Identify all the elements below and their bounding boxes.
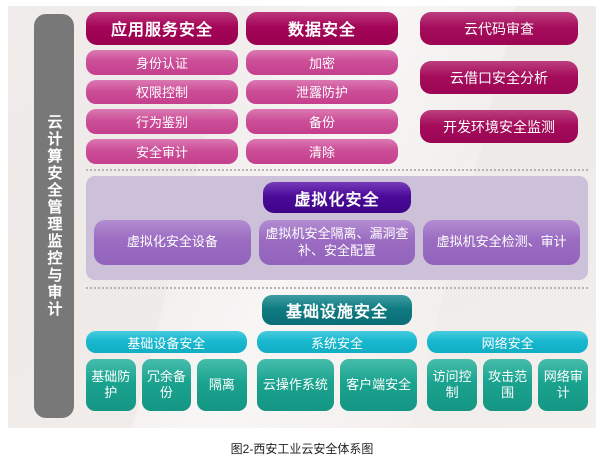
card-identity-authentication: 身份认证 (86, 50, 238, 75)
card-vm-security-detection-audit: 虚拟机安全检测、审计 (423, 220, 580, 265)
section-infrastructure-security: 基础设施安全 基础设备安全 基础防护 冗余备份 隔离 系统安全 云操作系统 客户… (86, 295, 588, 420)
column-cloud-extra-services: 云代码审查 云借口安全分析 开发环境安全监测 (420, 12, 578, 164)
card-client-security: 客户端安全 (340, 359, 417, 411)
card-redundant-backup: 冗余备份 (142, 359, 192, 411)
card-erasure: 清除 (246, 139, 398, 164)
card-security-audit: 安全审计 (86, 139, 238, 164)
group-network-security: 网络安全 访问控制 攻击范围 网络审计 (427, 331, 588, 411)
card-network-audit: 网络审计 (538, 359, 588, 411)
card-dev-environment-security-monitoring: 开发环境安全监测 (420, 110, 578, 143)
card-access-control: 访问控制 (427, 359, 477, 411)
card-behavior-identification: 行为鉴别 (86, 109, 238, 134)
card-application-service-security-title: 应用服务安全 (86, 12, 238, 45)
section-application-security: 应用服务安全 身份认证 权限控制 行为鉴别 安全审计 数据安全 加密 泄露防护 … (86, 12, 588, 164)
virtualization-header-row: 虚拟化安全 (94, 182, 580, 213)
card-cloud-interface-security-analysis: 云借口安全分析 (420, 61, 578, 94)
infrastructure-header-row: 基础设施安全 (86, 295, 588, 325)
card-system-security-title: 系统安全 (257, 331, 418, 353)
card-permission-control: 权限控制 (86, 80, 238, 105)
card-network-security-title: 网络安全 (427, 331, 588, 353)
column-data-security: 数据安全 加密 泄露防护 备份 清除 (246, 12, 398, 164)
card-leak-protection: 泄露防护 (246, 80, 398, 105)
group-system-security: 系统安全 云操作系统 客户端安全 (257, 331, 418, 411)
card-isolation: 隔离 (197, 359, 247, 411)
section-virtualization-security: 虚拟化安全 虚拟化安全设备 虚拟机安全隔离、漏洞查补、安全配置 虚拟机安全检测、… (86, 176, 588, 280)
divider-bottom (86, 287, 588, 289)
card-cloud-operating-system: 云操作系统 (257, 359, 334, 411)
card-basic-equipment-security-title: 基础设备安全 (86, 331, 247, 353)
card-encryption: 加密 (246, 50, 398, 75)
card-infrastructure-security-title: 基础设施安全 (262, 295, 412, 325)
virtualization-cards-row: 虚拟化安全设备 虚拟机安全隔离、漏洞查补、安全配置 虚拟机安全检测、审计 (94, 220, 580, 265)
figure-root: 云计算安全管理监控与审计 应用服务安全 身份认证 权限控制 行为鉴别 安全审计 … (0, 0, 604, 474)
card-backup: 备份 (246, 109, 398, 134)
group-basic-equipment-leaves: 基础防护 冗余备份 隔离 (86, 359, 247, 411)
card-attack-scope: 攻击范围 (483, 359, 533, 411)
figure-caption: 图2-西安工业云安全体系图 (0, 440, 604, 457)
divider-top (86, 169, 588, 171)
infrastructure-groups: 基础设备安全 基础防护 冗余备份 隔离 系统安全 云操作系统 客户端安全 网 (86, 331, 588, 411)
sidebar-label: 云计算安全管理监控与审计 (47, 114, 62, 318)
group-network-leaves: 访问控制 攻击范围 网络审计 (427, 359, 588, 411)
column-application-service-security: 应用服务安全 身份认证 权限控制 行为鉴别 安全审计 (86, 12, 238, 164)
card-cloud-code-review: 云代码审查 (420, 12, 578, 45)
group-system-leaves: 云操作系统 客户端安全 (257, 359, 418, 411)
card-virtualization-security-title: 虚拟化安全 (263, 182, 411, 213)
diagram-content: 应用服务安全 身份认证 权限控制 行为鉴别 安全审计 数据安全 加密 泄露防护 … (86, 12, 588, 422)
card-vm-isolation-patching-config: 虚拟机安全隔离、漏洞查补、安全配置 (259, 220, 416, 265)
card-virtualization-security-device: 虚拟化安全设备 (94, 220, 251, 265)
card-basic-protection: 基础防护 (86, 359, 136, 411)
group-basic-equipment-security: 基础设备安全 基础防护 冗余备份 隔离 (86, 331, 247, 411)
card-data-security-title: 数据安全 (246, 12, 398, 45)
sidebar-cloud-security-management: 云计算安全管理监控与审计 (34, 14, 74, 418)
